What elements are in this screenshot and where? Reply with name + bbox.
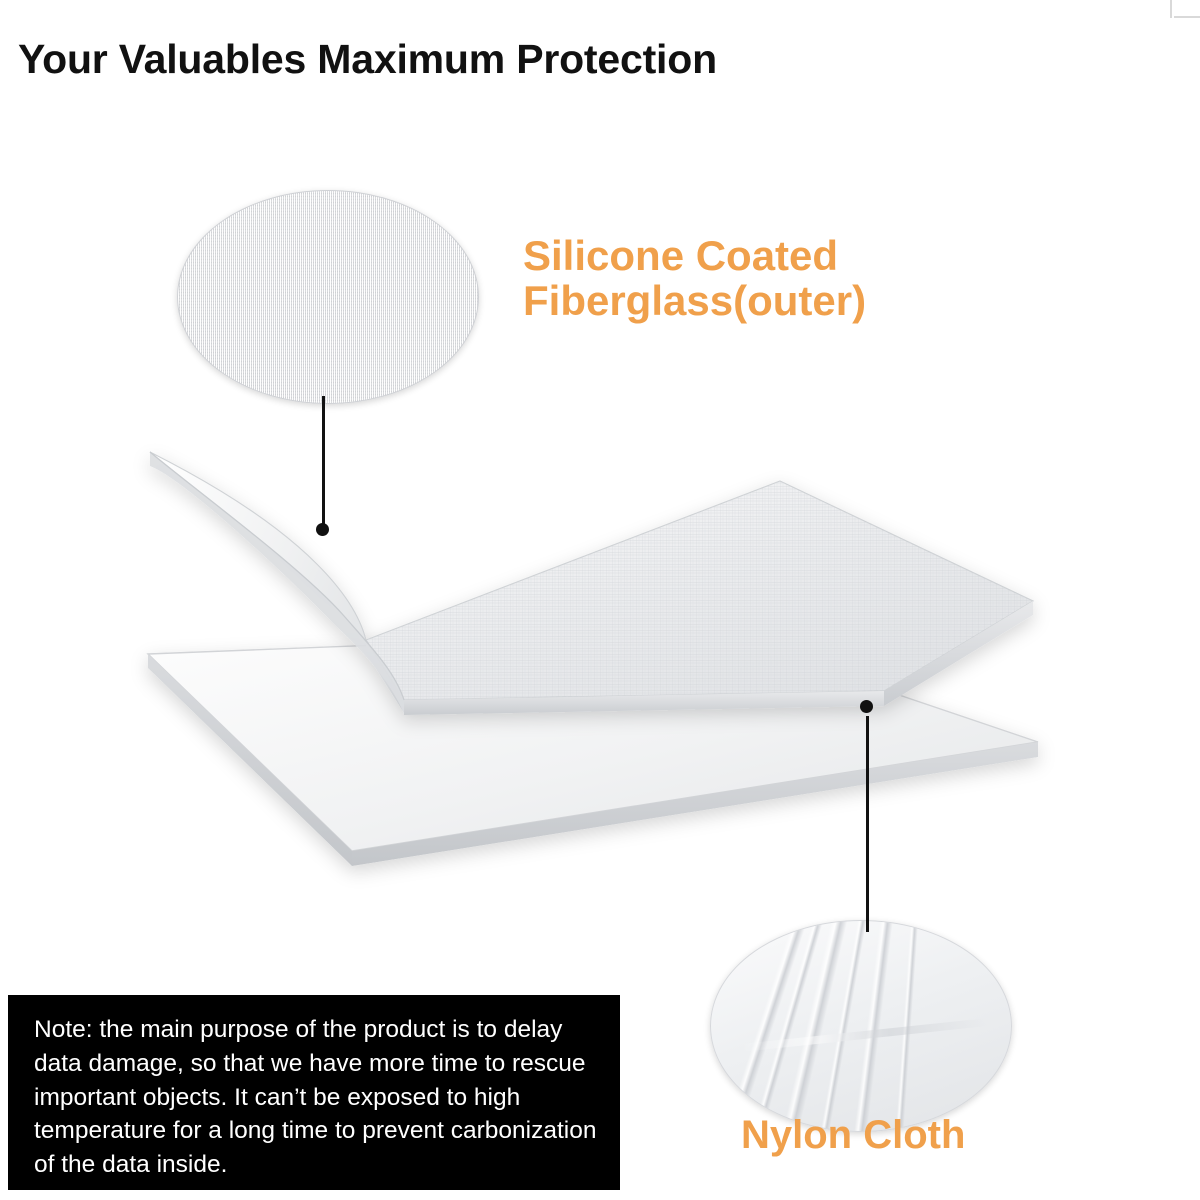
note-text: Note: the main purpose of the product is… xyxy=(34,1016,596,1178)
nylon-cloth-swatch xyxy=(710,920,1012,1132)
leader-line-inner xyxy=(866,716,869,932)
fiberglass-texture-swatch xyxy=(177,190,479,404)
callout-label-inner: Nylon Cloth xyxy=(741,1114,965,1156)
leader-dot-inner xyxy=(860,700,873,713)
note-box: Note: the main purpose of the product is… xyxy=(8,995,620,1190)
callout-label-outer: Silicone Coated Fiberglass(outer) xyxy=(523,234,866,323)
leader-dot-outer xyxy=(316,523,329,536)
diagram-canvas: Your Valuables Maximum Protection xyxy=(0,0,1200,1200)
leader-line-outer xyxy=(322,396,325,531)
